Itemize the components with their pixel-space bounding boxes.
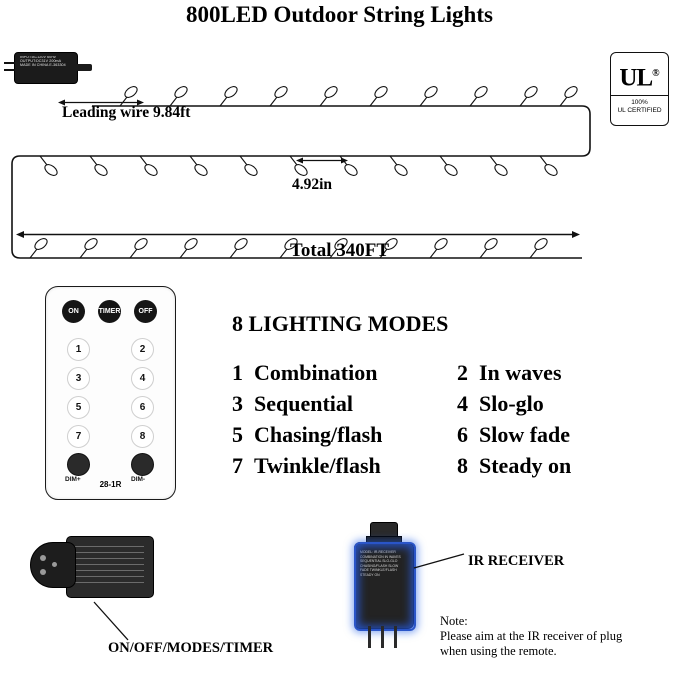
- leading-wire-label: Leading wire 9.84ft: [62, 104, 190, 122]
- plug-cable-connector: [76, 64, 92, 71]
- mode-item-7: 7 Twinkle/flash: [232, 453, 457, 479]
- mode-label: Slo-glo: [479, 391, 544, 417]
- bulb-spacing-arrow: [296, 152, 348, 161]
- note-line-2: when using the remote.: [440, 644, 670, 659]
- mode-number: 6: [457, 422, 479, 448]
- remote-button-2[interactable]: 2: [131, 338, 154, 361]
- mode-label: Sequential: [254, 391, 353, 417]
- remote-button-timer[interactable]: TIMER: [98, 300, 121, 323]
- mode-number: 2: [457, 360, 479, 386]
- remote-button-on[interactable]: ON: [62, 300, 85, 323]
- remote-button-3[interactable]: 3: [67, 367, 90, 390]
- remote-button-1[interactable]: 1: [67, 338, 90, 361]
- controller-plug-head: [30, 542, 76, 588]
- ir-receiver-label: IR RECEIVER: [468, 553, 564, 570]
- remote-button-6[interactable]: 6: [131, 396, 154, 419]
- controller-module: [30, 528, 160, 610]
- lighting-modes-list: 1 Combination 2 In waves 3 Sequential 4 …: [232, 360, 652, 484]
- remote-control[interactable]: ON TIMER OFF 1 2 3 4 5 6 7 8 DIM+ DIM- 2…: [45, 286, 176, 500]
- ir-leader-line: [412, 550, 466, 570]
- mode-label: Steady on: [479, 453, 571, 479]
- page-title: 800LED Outdoor String Lights: [0, 2, 679, 28]
- ir-usage-note: Note: Please aim at the IR receiver of p…: [440, 614, 670, 659]
- mode-label: Twinkle/flash: [254, 453, 381, 479]
- registered-trademark-icon: ®: [652, 68, 659, 79]
- ul-certified-label: UL CERTIFIED: [611, 107, 668, 115]
- mode-number: 3: [232, 391, 254, 417]
- bulb-spacing-label: 4.92in: [292, 176, 332, 194]
- modes-row: 5 Chasing/flash 6 Slow fade: [232, 422, 652, 448]
- note-line-1: Please aim at the IR receiver of plug: [440, 629, 670, 644]
- mode-item-1: 1 Combination: [232, 360, 457, 386]
- note-title: Note:: [440, 614, 670, 629]
- controller-leader-line: [92, 600, 132, 642]
- plug-socket-hole: [52, 562, 57, 567]
- mode-number: 8: [457, 453, 479, 479]
- plug-spec-text: INPUT:AC120V 60Hz OUTPUT:DC31V 200mA MAD…: [20, 56, 70, 78]
- remote-button-7[interactable]: 7: [67, 425, 90, 448]
- modes-row: 7 Twinkle/flash 8 Steady on: [232, 453, 652, 479]
- remote-button-dim-up[interactable]: [67, 453, 90, 476]
- mode-number: 7: [232, 453, 254, 479]
- total-length-label: Total 340FT: [0, 240, 679, 262]
- mode-number: 4: [457, 391, 479, 417]
- mode-item-2: 2 In waves: [457, 360, 562, 386]
- controller-label: ON/OFF/MODES/TIMER: [108, 640, 273, 657]
- plug-socket-hole: [40, 555, 46, 561]
- ul-divider: [611, 95, 668, 96]
- mode-number: 1: [232, 360, 254, 386]
- ir-glow-highlight: [354, 542, 416, 631]
- total-length-arrow: [16, 226, 580, 235]
- plug-prongs-icon: [4, 60, 15, 74]
- lighting-modes-heading: 8 LIGHTING MODES: [232, 311, 448, 337]
- remote-model-label: 28-1R: [46, 480, 175, 489]
- mode-item-3: 3 Sequential: [232, 391, 457, 417]
- mode-item-4: 4 Slo-glo: [457, 391, 544, 417]
- controller-ribs: [74, 542, 144, 590]
- ul-percent-label: 100%: [611, 99, 668, 107]
- remote-button-8[interactable]: 8: [131, 425, 154, 448]
- plug-socket-hole: [40, 569, 46, 575]
- ul-mark-text: UL®: [611, 59, 668, 93]
- modes-row: 1 Combination 2 In waves: [232, 360, 652, 386]
- mode-label: Chasing/flash: [254, 422, 382, 448]
- mode-label: In waves: [479, 360, 562, 386]
- ul-certification-badge: UL® 100% UL CERTIFIED: [610, 52, 669, 126]
- remote-button-dim-down[interactable]: [131, 453, 154, 476]
- ir-prongs-icon: [368, 626, 398, 650]
- modes-row: 3 Sequential 4 Slo-glo: [232, 391, 652, 417]
- remote-button-4[interactable]: 4: [131, 367, 154, 390]
- mode-label: Slow fade: [479, 422, 570, 448]
- ir-receiver-unit: MODEL: IR-RECEIVER COMBINATION IN WAVES …: [352, 522, 414, 652]
- mode-number: 5: [232, 422, 254, 448]
- mode-label: Combination: [254, 360, 377, 386]
- remote-button-off[interactable]: OFF: [134, 300, 157, 323]
- remote-button-5[interactable]: 5: [67, 396, 90, 419]
- leading-wire-arrow: [58, 94, 144, 103]
- mode-item-8: 8 Steady on: [457, 453, 571, 479]
- mode-item-6: 6 Slow fade: [457, 422, 570, 448]
- mode-item-5: 5 Chasing/flash: [232, 422, 457, 448]
